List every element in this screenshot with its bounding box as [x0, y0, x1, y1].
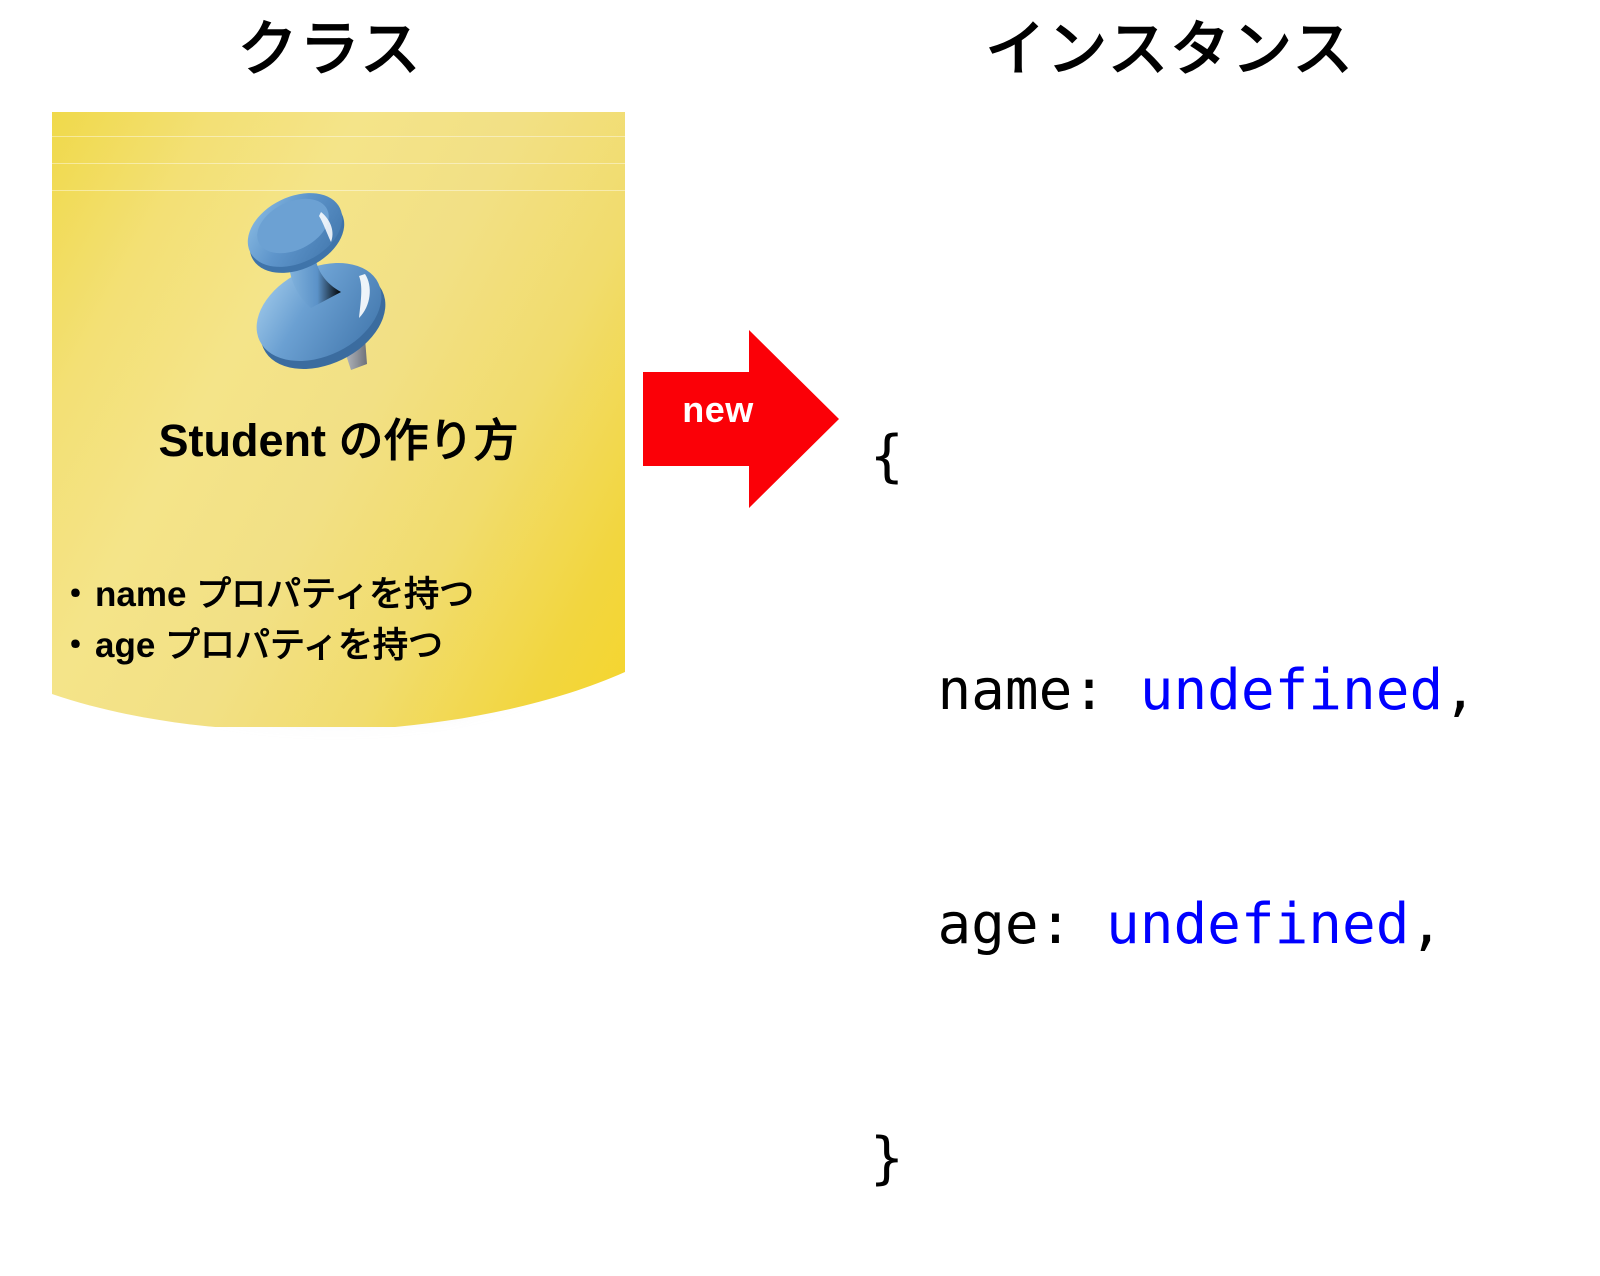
- code-line: {: [870, 418, 1477, 496]
- instance-column-title: インスタンス: [820, 20, 1520, 80]
- class-column-title: クラス: [0, 20, 660, 80]
- code-comma: ,: [1443, 658, 1477, 723]
- instance-code-block: { name: undefined, age: undefined, }: [870, 262, 1477, 1276]
- note-title: Student の作り方: [52, 416, 625, 466]
- note-bullet-list: ・name プロパティを持つ ・age プロパティを持つ: [58, 570, 638, 672]
- code-line: age: undefined,: [870, 886, 1477, 964]
- new-arrow-label: new: [643, 392, 793, 428]
- code-line: }: [870, 1120, 1477, 1198]
- new-arrow: new: [643, 330, 839, 508]
- code-line: name: undefined,: [870, 652, 1477, 730]
- bullet-marker-icon: ・: [58, 626, 93, 665]
- note-bullet-text: age プロパティを持つ: [95, 626, 443, 665]
- code-indent: [870, 658, 937, 723]
- note-bullet-item: ・age プロパティを持つ: [58, 621, 638, 672]
- note-bullet-item: ・name プロパティを持つ: [58, 570, 638, 621]
- code-key: name:: [937, 658, 1106, 723]
- code-indent: [870, 892, 937, 957]
- note-bullet-text: name プロパティを持つ: [95, 575, 474, 614]
- pushpin-icon: [215, 188, 475, 438]
- class-sticky-note: Student の作り方 ・name プロパティを持つ ・age プロパティを持…: [40, 100, 640, 780]
- code-key: }: [870, 1126, 904, 1191]
- code-key: {: [870, 424, 904, 489]
- bullet-marker-icon: ・: [58, 575, 93, 614]
- code-value: undefined: [1106, 892, 1409, 957]
- code-value: undefined: [1140, 658, 1443, 723]
- code-key: age:: [937, 892, 1072, 957]
- code-comma: ,: [1409, 892, 1443, 957]
